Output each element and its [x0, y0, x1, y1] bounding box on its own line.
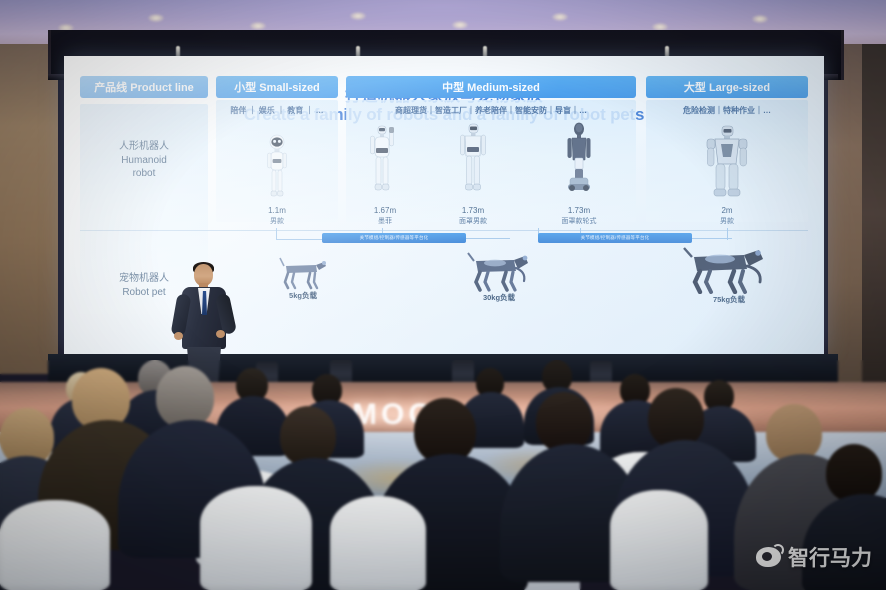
humanoid-robot-large-icon	[704, 124, 750, 206]
spec-large-1: 2m 男款	[646, 206, 808, 226]
audience-head	[766, 404, 822, 462]
ceiling-downlight	[752, 15, 768, 23]
spec-medium-2: 1.73m 面罩男款	[430, 206, 516, 226]
bracket-line	[276, 239, 328, 240]
humanoid-robot-small-icon	[266, 134, 288, 202]
spec-small-1: 1.1m 男款	[216, 206, 338, 226]
row-label-humanoid-cn: 人形机器人	[80, 140, 208, 154]
banquet-chair	[330, 496, 426, 590]
watermark: 智行马力	[756, 542, 872, 572]
subheader-medium: 商超理货｜智造工厂｜养老陪伴｜智能安防｜导盲｜…	[346, 105, 636, 116]
wall-left	[0, 44, 58, 374]
connector-lead	[692, 238, 732, 239]
row-label-humanoid-en1: Humanoid	[80, 154, 208, 168]
spec-height: 1.73m	[526, 206, 632, 215]
speaker-hand-right	[216, 330, 225, 338]
spec-variant: 男款	[216, 216, 338, 226]
robot-pet-large-icon	[680, 242, 770, 294]
header-product-line: 产品线 Product line	[80, 76, 208, 98]
spec-variant: 墨菲	[342, 216, 428, 226]
spec-variant: 面罩男款	[430, 216, 516, 226]
ceiling-downlight	[148, 14, 164, 22]
spec-height: 1.73m	[430, 206, 516, 215]
subheader-large: 危险检测｜特种作业｜…	[646, 105, 808, 116]
subheader-small: 陪伴 ｜ 娱乐 ｜ 教育 ｜ …	[216, 105, 338, 116]
ceiling-downlight	[250, 22, 266, 30]
ceiling-downlight	[552, 13, 568, 21]
conference-photo: 打造机器人家族与宠物家族 Create a family of robots a…	[0, 0, 886, 590]
humanoid-robot-medium-b-icon	[459, 122, 487, 204]
speaker-hand-left	[174, 332, 183, 340]
row-label-humanoid-en2: robot	[80, 167, 208, 181]
audience-head	[280, 406, 336, 466]
header-medium-sized: 中型 Medium-sized	[346, 76, 636, 98]
audience-head	[156, 366, 214, 428]
header-small-sized: 小型 Small-sized	[216, 76, 338, 98]
humanoid-robot-medium-c-wheeled-icon	[564, 122, 594, 206]
wall-right-panel	[862, 44, 886, 384]
spec-variant: 男款	[646, 216, 808, 226]
spec-height: 1.1m	[216, 206, 338, 215]
watermark-text: 智行马力	[788, 542, 872, 572]
banquet-chair	[0, 500, 110, 590]
row-divider	[80, 230, 808, 231]
row-label-humanoid: 人形机器人 Humanoid robot	[80, 140, 208, 181]
spec-medium-1: 1.67m 墨菲	[342, 206, 428, 226]
header-large-sized: 大型 Large-sized	[646, 76, 808, 98]
robot-pet-small-icon	[276, 254, 330, 290]
ceiling-downlight	[350, 12, 366, 20]
banquet-chair	[610, 490, 708, 590]
connector-lead	[466, 238, 510, 239]
spec-height: 1.67m	[342, 206, 428, 215]
pet-payload-2: 30kg负载	[456, 292, 542, 303]
audience-head	[826, 444, 882, 502]
banquet-chair	[200, 486, 312, 590]
platform-connector-bar-1: 关节模组/控制器/传感器等平台化	[322, 233, 466, 243]
humanoid-robot-medium-a-icon	[369, 124, 395, 204]
spec-height: 2m	[646, 206, 808, 215]
audience-head	[536, 392, 592, 452]
weibo-icon	[756, 547, 781, 567]
pet-payload-3: 75kg负载	[684, 294, 774, 305]
audience-head	[648, 388, 704, 448]
ceiling-downlight	[452, 21, 468, 29]
spec-variant: 面罩款轮式	[526, 216, 632, 226]
platform-connector-bar-2: 关节模组/控制器/传感器等平台化	[538, 233, 692, 243]
pet-payload-1: 5kg负载	[260, 290, 346, 301]
spec-medium-3: 1.73m 面罩款轮式	[526, 206, 632, 226]
robot-pet-medium-icon	[464, 248, 534, 292]
